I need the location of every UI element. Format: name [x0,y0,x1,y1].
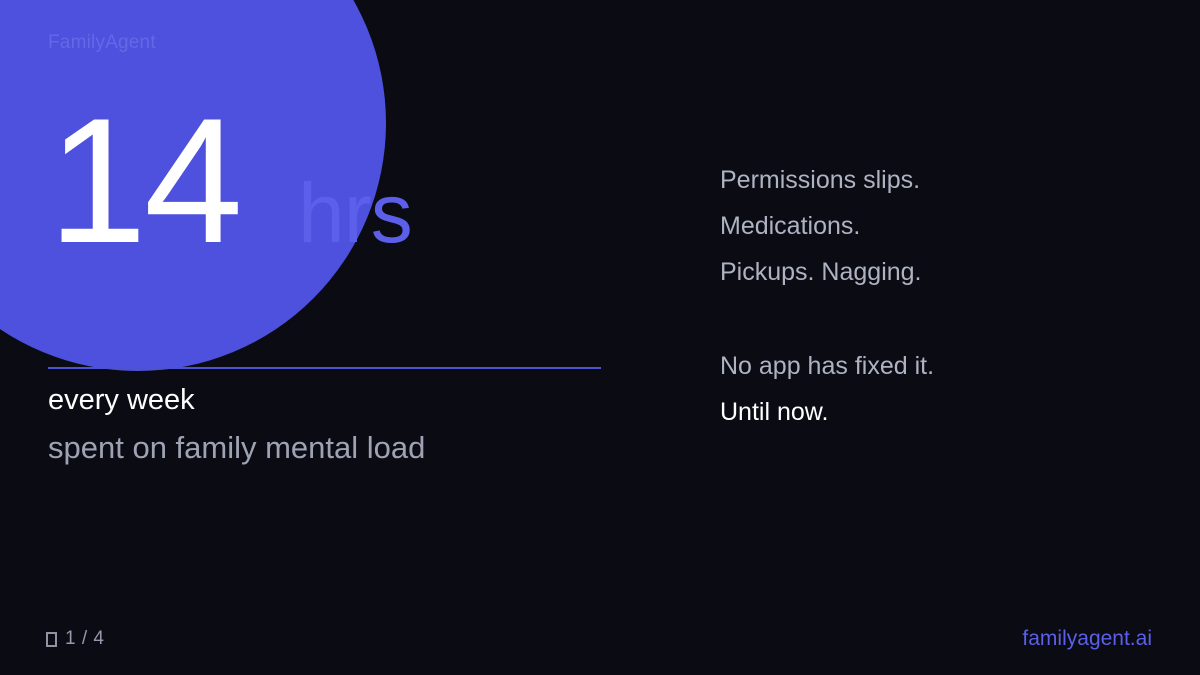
website-url[interactable]: familyagent.ai [1022,627,1152,651]
hero-statistic: 14 hrs [48,92,412,270]
verdict-block: No app has fixed it. Until now. [720,343,934,435]
pain-point-item: Permissions slips. [720,157,934,203]
presentation-slide: FamilyAgent 14 hrs every week spent on f… [0,0,1200,675]
caption-secondary: spent on family mental load [48,432,425,463]
pain-point-list: Permissions slips. Medications. Pickups.… [720,157,934,295]
pain-point-item: Pickups. Nagging. [720,249,934,295]
verdict-statement: No app has fixed it. [720,343,934,389]
missing-glyph-icon [46,632,57,647]
hero-unit-label: hrs [298,171,412,255]
divider-rule [48,367,601,369]
brand-wordmark: FamilyAgent [48,32,156,54]
hero-number: 14 [48,92,240,270]
hero-caption: every week spent on family mental load [48,386,425,463]
right-column: Permissions slips. Medications. Pickups.… [720,157,934,435]
slide-counter-group: 1 / 4 [46,628,104,650]
verdict-emphasis: Until now. [720,389,934,435]
slide-counter: 1 / 4 [65,628,104,650]
caption-primary: every week [48,386,425,415]
pain-point-item: Medications. [720,203,934,249]
